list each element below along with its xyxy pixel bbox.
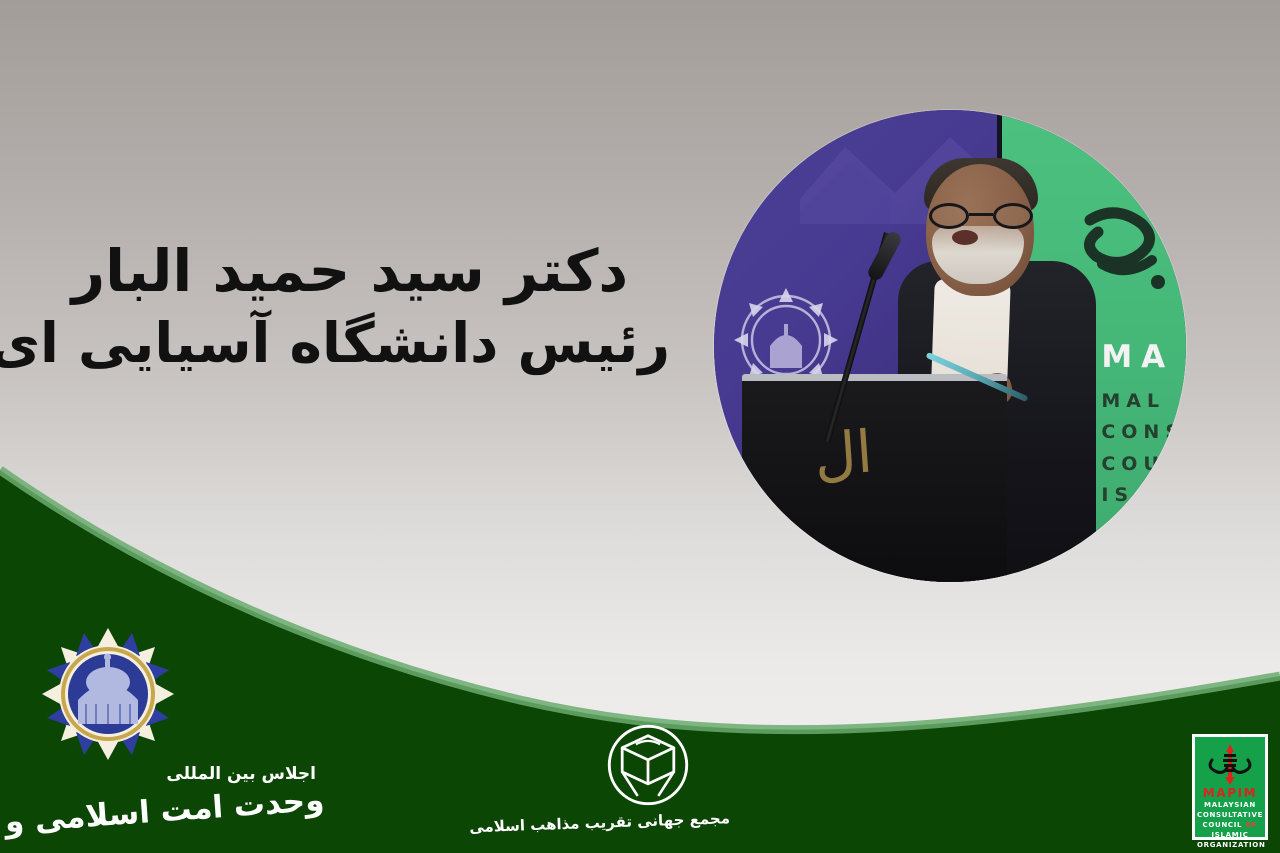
mapim-line-3: COUNCIL OF [1197, 821, 1263, 831]
banner-line-3: COU [1101, 454, 1184, 475]
slide-canvas: MA MAL CONS COU IS ال [0, 0, 1280, 853]
podium-calligraphy-icon: ال [813, 424, 863, 537]
mapim-line-3a: COUNCIL [1202, 821, 1242, 829]
speaker-role: رئیس دانشگاه آسیایی ای-یو مالزی [30, 308, 670, 380]
mapim-line-2: CONSULTATIVE [1197, 811, 1263, 821]
banner-wordmark: MA [1101, 341, 1184, 374]
proximity-forum-caption: مجمع جهانی تقریب مذاهب اسلامی [566, 809, 731, 833]
mapim-line-5: ORGANIZATION [1197, 841, 1263, 851]
speaker-glasses-icon [929, 203, 1033, 229]
banner-line-2: CONS [1101, 422, 1184, 443]
mapim-acronym: MAPIM [1197, 787, 1263, 800]
mapim-logo: MAPIM MALAYSIAN CONSULTATIVE COUNCIL OF … [1192, 734, 1268, 840]
mapim-line-3b: OF [1245, 821, 1257, 829]
banner-line-4: IS [1101, 485, 1184, 506]
speaker-mouth [952, 230, 978, 245]
conference-logo: اجلاس بین المللی وحدت امت اسلامی و فلسطی… [26, 624, 326, 844]
dome-rosette-icon [38, 624, 178, 764]
podium: ال [742, 374, 1006, 582]
banner-wordmark-block: MA MAL CONS COU IS [1101, 341, 1186, 517]
conference-logo-line1: اجلاس بین المللی [166, 764, 316, 784]
mapim-emblem-icon [1204, 742, 1256, 786]
page-title: دکتر سید حمید البار رئیس دانشگاه آسیایی … [30, 236, 670, 379]
banner-line-1: MAL [1101, 391, 1184, 412]
kaaba-book-icon [605, 722, 691, 808]
proximity-forum-logo: مجمع جهانی تقریب مذاهب اسلامی [566, 722, 730, 844]
speaker-name: دکتر سید حمید البار [30, 236, 670, 308]
speaker-portrait: MA MAL CONS COU IS ال [714, 110, 1186, 582]
mapim-line-4: ISLAMIC [1197, 831, 1263, 841]
conference-logo-line2: وحدت امت اسلامی و فلسطین [0, 782, 325, 850]
mapim-line-1: MALAYSIAN [1197, 801, 1263, 811]
